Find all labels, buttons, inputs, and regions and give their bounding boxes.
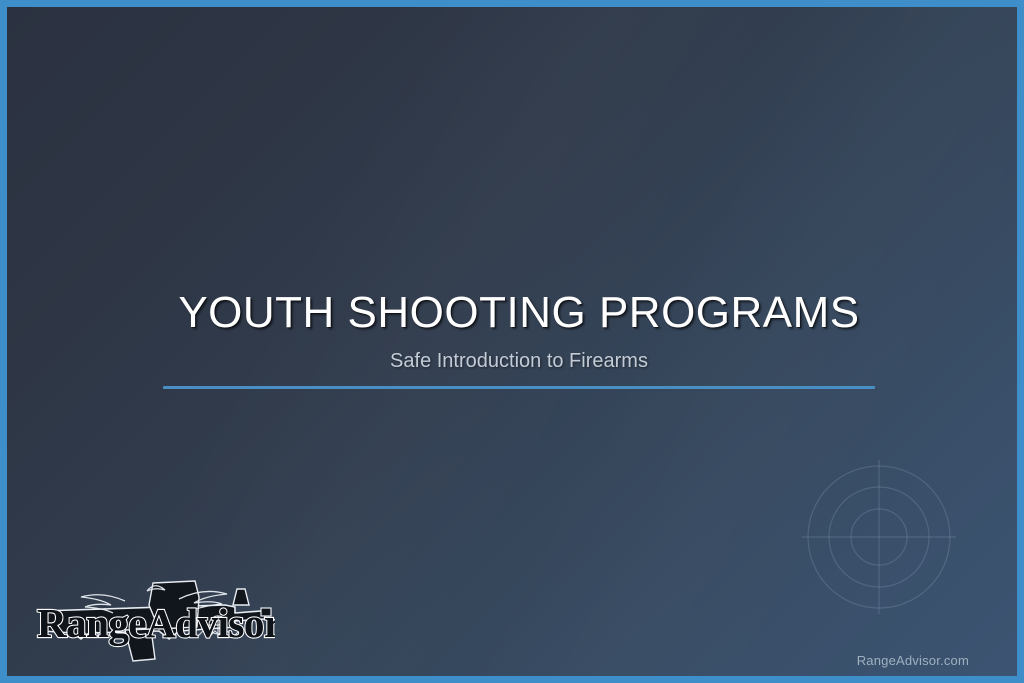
page-title: YOUTH SHOOTING PROGRAMS <box>7 290 1024 336</box>
brand-logo: RangeAdvisor RangeAdvisor <box>29 575 275 663</box>
brand-wordmark-fill: RangeAdvisor <box>37 600 275 646</box>
page-subtitle: Safe Introduction to Firearms <box>7 350 1024 373</box>
title-block: YOUTH SHOOTING PROGRAMS Safe Introductio… <box>7 290 1024 373</box>
crosshair-target-icon <box>800 458 958 616</box>
footer-url: RangeAdvisor.com <box>857 653 969 668</box>
accent-divider <box>163 386 875 389</box>
title-slide: YOUTH SHOOTING PROGRAMS Safe Introductio… <box>0 0 1024 683</box>
